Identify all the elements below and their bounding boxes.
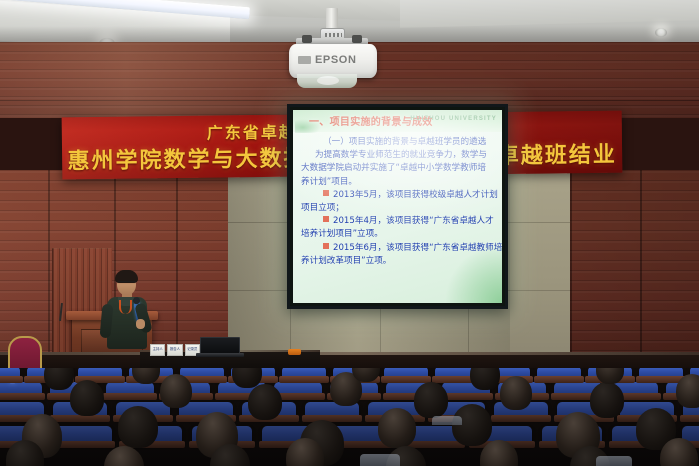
projector-body: EPSON: [289, 44, 377, 78]
laptop-keyboard: [196, 353, 244, 357]
presenter-lanyard: [119, 300, 132, 314]
audience-member: [470, 368, 500, 390]
audience-shirt: [432, 416, 462, 425]
slide-line: 养计划”项目。: [301, 176, 496, 189]
lecture-hall-photo: EPSON 广东省卓越中学教师人才培养计划 惠州学院数学与大数据学院（2015级…: [0, 0, 699, 466]
ceiling-slab: [400, 0, 699, 28]
projected-slide: 一、项目实施的背景与成效 HUIZHOU UNIVERSITY （一）项目实施的…: [293, 110, 502, 303]
auditorium-seat: [537, 368, 581, 378]
slide-line-text: 培养计划项目”立项。: [301, 229, 383, 239]
desk-object: [288, 349, 301, 355]
slide-line-text: 养计划改革项目”立项。: [301, 256, 391, 266]
auditorium-seat: [274, 382, 322, 395]
laptop: [196, 337, 244, 357]
slide-bullet-icon: [323, 216, 329, 222]
audience-member: [452, 404, 492, 446]
wall-panel-groove: [640, 170, 642, 356]
wall-panel-groove: [176, 170, 178, 356]
audience-member: [414, 382, 448, 418]
slide-title-bar: 一、项目实施的背景与成效 HUIZHOU UNIVERSITY: [293, 110, 502, 132]
tile-seam: [510, 222, 570, 223]
audience-member: [104, 446, 144, 466]
projector-badge-icon: [298, 56, 311, 64]
slide-line-text: 项目立项；: [301, 203, 344, 213]
presenter-right-hand: [136, 319, 145, 329]
slide-bullet-icon: [323, 190, 329, 196]
name-placards: 主持人报告人记录员: [150, 344, 200, 356]
projector-lens: [297, 74, 357, 88]
slide-line-text: 大数据学院启动并实施了“卓越中小学数学教师培: [301, 163, 486, 173]
audience-member: [160, 374, 192, 408]
wall-panel-groove: [570, 170, 572, 356]
audience-member: [590, 382, 624, 418]
audience-shirt: [596, 456, 632, 466]
wall-seam: [0, 100, 699, 101]
projection-screen: 一、项目实施的背景与成效 HUIZHOU UNIVERSITY （一）项目实施的…: [287, 104, 508, 309]
name-placard-label: 报告人: [170, 348, 180, 351]
auditorium-seat: [639, 368, 683, 378]
slide-line-text: （一）项目实施的背景与卓越班学员的遴选: [323, 137, 486, 147]
audience-seating: [0, 368, 699, 466]
slide-line: 为提高数学专业师范生的就业竞争力，数学与: [301, 149, 496, 162]
projector-mount-rod: [326, 8, 338, 30]
vip-chair-back: [8, 336, 42, 372]
audience-shirt: [360, 454, 400, 466]
wall-panel-groove: [48, 170, 50, 356]
audience-member: [118, 406, 158, 448]
slide-line-text: 为提高数学专业师范生的就业竞争力，数学与: [315, 150, 487, 160]
slide-corner-decoration: [446, 245, 502, 303]
audience-member: [676, 374, 699, 408]
epson-projector: EPSON: [272, 8, 402, 88]
audience-member: [500, 376, 532, 410]
auditorium-seat: [0, 368, 20, 378]
stage-edge: [0, 352, 699, 355]
audience-member: [378, 408, 416, 448]
auditorium-seat: [180, 368, 224, 378]
laptop-screen: [200, 337, 240, 354]
projector-brand-label: EPSON: [315, 54, 357, 66]
slide-university-watermark: HUIZHOU UNIVERSITY: [410, 116, 497, 122]
tile-seam: [510, 290, 570, 291]
slide-line: 2013年5月，该项目获得校级卓越人才计划: [301, 189, 496, 202]
slide-line-text: 2015年4月，该项目获得“广东省卓越人才: [333, 216, 494, 226]
slide-line-text: 养计划”项目。: [301, 177, 357, 187]
presenter-glasses: [118, 281, 135, 285]
slide-line: （一）项目实施的背景与卓越班学员的遴选: [301, 136, 496, 149]
slide-line: 2015年4月，该项目获得“广东省卓越人才: [301, 215, 496, 228]
auditorium-seat: [78, 368, 122, 378]
slide-bullet-icon: [323, 243, 329, 249]
auditorium-seat: [0, 382, 42, 395]
name-placard: 主持人: [150, 344, 165, 356]
presenter: [100, 272, 156, 360]
tile-wall-right: [510, 170, 570, 356]
audience-member: [248, 384, 282, 420]
audience-member: [44, 368, 74, 390]
auditorium-seat: [384, 368, 428, 378]
slide-line: 培养计划项目”立项。: [301, 228, 496, 241]
audience-member: [70, 380, 104, 416]
name-placard: 报告人: [167, 344, 182, 356]
slide-line: 大数据学院启动并实施了“卓越中小学数学教师培: [301, 162, 496, 175]
auditorium-seat: [282, 368, 326, 378]
name-placard-label: 主持人: [153, 348, 163, 351]
slide-line-text: 2013年5月，该项目获得校级卓越人才计划: [333, 190, 498, 200]
slide-line: 项目立项；: [301, 202, 496, 215]
